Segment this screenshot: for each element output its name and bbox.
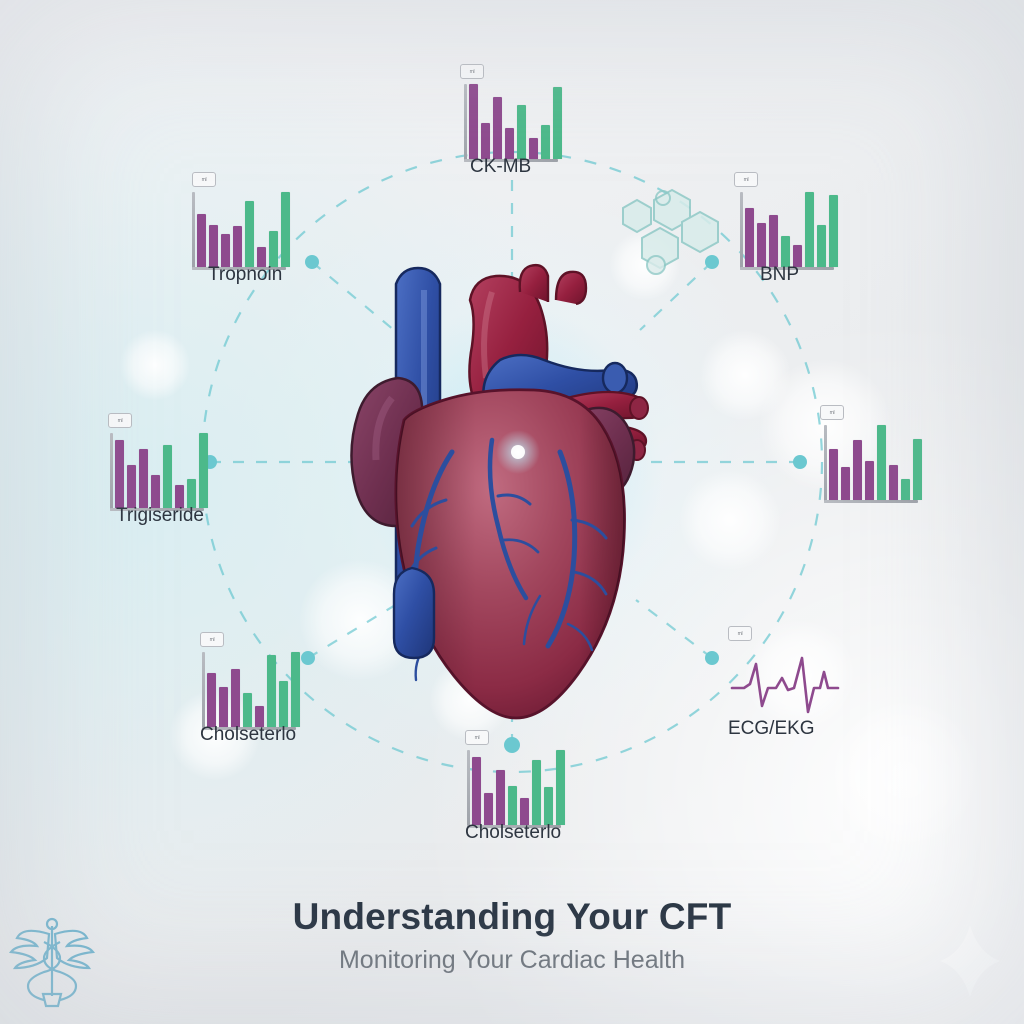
four-point-star-icon [940,925,1000,997]
sparkle-decoration [0,0,1024,1024]
infographic-canvas: ml CK-MB ml Tropnoin ml BNP ml [0,0,1024,1024]
